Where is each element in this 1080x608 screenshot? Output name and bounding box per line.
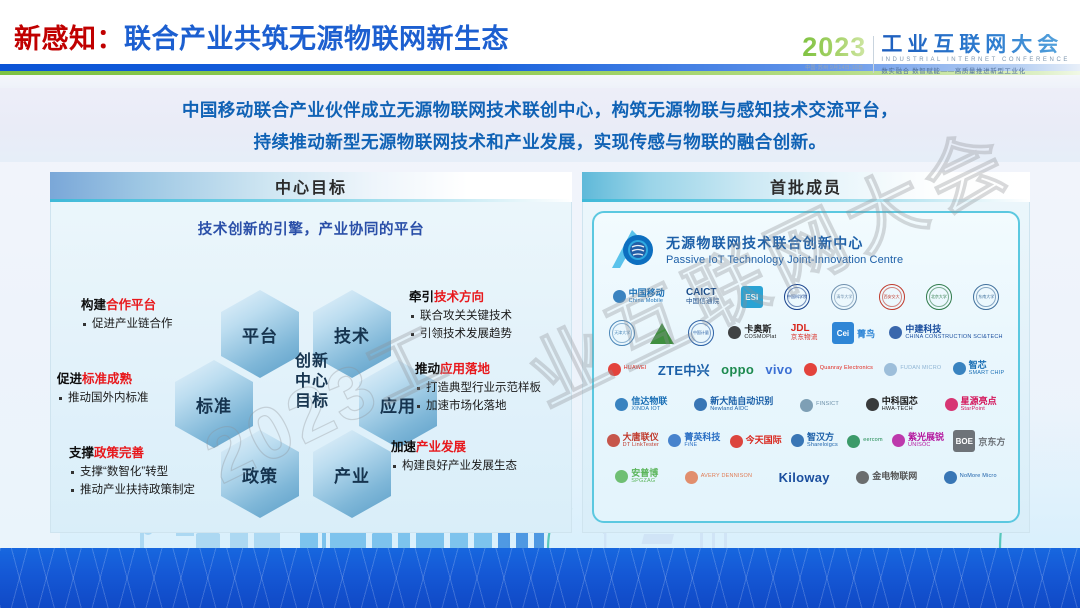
panel-center-goals: 中心目标 技术创新的引擎，产业协同的平台 平台 技术 标准 应用 政策 产业 创…: [50, 172, 572, 533]
seal-icon: 东南大学: [973, 284, 999, 310]
logo-name-en: DT LinkTester: [623, 443, 659, 449]
caption-policy-head-plain: 支撑: [69, 446, 94, 460]
logo-text: 卡奥斯COSMOPlat: [744, 325, 776, 340]
member-logo-seal-std[interactable]: [650, 323, 674, 344]
logo-text: 金电物联网: [872, 472, 917, 481]
caption-application-head-plain: 推动: [415, 362, 440, 376]
logo-mark-icon: [685, 471, 698, 484]
grid-floor-decoration: [0, 548, 1080, 608]
logo-wordmark: vivo: [765, 362, 792, 377]
member-logo-dt-linktester[interactable]: 大唐联仪DT LinkTester: [607, 433, 659, 448]
logo-text: 菁英科技FiNE: [684, 433, 720, 448]
logo-name-en: CHINA CONSTRUCTION SCI&TECH: [905, 335, 1002, 341]
logo-mark-icon: [892, 434, 905, 447]
seal-icon: 清华大学: [831, 284, 857, 310]
caption-policy-head-red: 政策完善: [94, 446, 144, 460]
header-rule-shadow: [0, 75, 1080, 88]
member-logo-seal-univ-3[interactable]: 北京大学: [926, 284, 952, 310]
member-logo-boe[interactable]: BOE京东方: [953, 430, 1005, 452]
seal-icon: 中国计量: [688, 320, 714, 346]
member-logo-kiloway[interactable]: Kiloway: [779, 470, 830, 485]
member-logo-fine[interactable]: 菁英科技FiNE: [668, 433, 720, 448]
seal-icon: 中国科学院: [784, 284, 810, 310]
seal-icon: 北京大学: [926, 284, 952, 310]
member-logo-eercom[interactable]: eercom: [847, 435, 883, 448]
list-item: 打造典型行业示范样板: [415, 380, 565, 397]
member-logo-row: 安普博SPGZAGAVERY DENNISONKiloway金电物联网NoMor…: [600, 459, 1012, 495]
innovation-center-name-en: Passive IoT Technology Joint-Innovation …: [666, 254, 903, 266]
logo-text: 智汉方Shareloigcs: [807, 433, 838, 448]
caption-industry: 加速产业发展 构建良好产业发展生态: [391, 438, 547, 476]
member-logo-jdl[interactable]: JDL京东物流: [791, 324, 818, 341]
logo-name-en: AVERY DENNISON: [701, 474, 752, 480]
logo-badge: BOE: [953, 430, 975, 452]
seal-label: 东南大学: [978, 295, 994, 299]
logo-mark-icon: [800, 399, 813, 412]
logo-wordmark: ZTE中兴: [658, 360, 710, 379]
caption-technology-head: 牵引技术方向: [409, 288, 569, 306]
member-logo-seal-univ-5[interactable]: 天津大学: [609, 320, 635, 346]
panel-left-body: 技术创新的引擎，产业协同的平台 平台 技术 标准 应用 政策 产业 创新 中心 …: [50, 202, 572, 533]
conference-logo-name-block: 工业互联网大会 INDUSTRIAL INTERNET CONFERENCE 数…: [881, 34, 1070, 75]
conference-name-cn: 工业互联网大会: [881, 34, 1070, 56]
hexagon-industry[interactable]: 产业: [313, 430, 391, 518]
list-item: 联合攻关关键技术: [409, 308, 569, 325]
member-logo-quanray[interactable]: Quanray Electronics: [804, 363, 873, 376]
logo-name-en: UNISOC: [908, 443, 944, 449]
logo-name-cn: 今天国际: [746, 436, 782, 445]
logo-mark-icon: [866, 398, 879, 411]
logo-text: Quanray Electronics: [820, 366, 873, 372]
caption-policy-bullets: 支撑“数智化”转型 推动产业扶持政策制定: [69, 464, 237, 498]
logo-name-en: FiNE: [684, 443, 720, 449]
list-item: 促进产业链合作: [81, 316, 231, 333]
panel-right-header: 首批成员: [582, 172, 1030, 199]
panel-right-body: 无源物联网技术联合创新中心 Passive IoT Technology Joi…: [582, 202, 1030, 533]
member-logo-vivo[interactable]: vivo: [765, 362, 792, 377]
conference-year: 2023: [802, 34, 866, 61]
innovation-center-logo-icon: [608, 226, 658, 272]
logo-text: HUAWEI: [624, 366, 647, 372]
logo-text: 今天国际: [746, 436, 782, 445]
banner-line-2: 持续推动新型无源物联网技术和产业发展，实现传感与物联的融合创新。: [254, 129, 827, 154]
member-logo-grid: 中国移动China MobileCAICT中国信通院ESI中国科学院清华大学西安…: [600, 279, 1012, 517]
caption-standard-head: 促进标准成熟: [57, 370, 207, 388]
logo-wordmark: Kiloway: [779, 470, 830, 485]
logo-name-en: NoMore Micro: [960, 474, 997, 480]
logo-name-en: HWA-TECH: [882, 407, 918, 413]
member-logo-zte[interactable]: ZTE中兴: [658, 360, 710, 379]
caption-platform: 构建合作平台 促进产业链合作: [81, 296, 231, 334]
member-logo-newland-aidc[interactable]: 新大陆自动识别Newland AIDC: [694, 397, 773, 412]
caption-application-head-red: 应用落地: [440, 362, 490, 376]
logo-name-en: COSMOPlat: [744, 335, 776, 341]
conference-logo-year-block: 2023 中国·苏州 9月14日-16日: [802, 34, 866, 71]
list-item: 引领技术发展趋势: [409, 326, 569, 343]
innovation-center-text: 无源物联网技术联合创新中心 Passive IoT Technology Joi…: [666, 233, 903, 266]
logo-mark-icon: [884, 363, 897, 376]
logo-text: 中国移动China Mobile: [629, 289, 665, 304]
center-label-line-3: 目标: [295, 392, 329, 412]
logo-mark-icon: [613, 290, 626, 303]
logo-mark-icon: [856, 471, 869, 484]
caption-technology-head-plain: 牵引: [409, 290, 434, 304]
innovation-center-name-cn: 无源物联网技术联合创新中心: [666, 233, 903, 253]
summary-banner: 中国移动联合产业伙伴成立无源物联网技术联创中心，构筑无源物联与感知技术交流平台，…: [0, 88, 1080, 162]
caption-standard: 促进标准成熟 推动国外内标准: [57, 370, 207, 408]
logo-mark-icon: [668, 434, 681, 447]
seal-label: 天津大学: [614, 331, 630, 335]
member-logo-smartchip[interactable]: 智芯SMART CHIP: [953, 361, 1005, 376]
logo-name-en: FUDAN MICRO: [900, 366, 941, 372]
member-logo-starpoint[interactable]: 星源亮点StarPoint: [945, 397, 997, 412]
caption-industry-head-red: 产业发展: [416, 440, 466, 454]
member-logo-spgzag[interactable]: 安普博SPGZAG: [615, 469, 658, 484]
member-logo-seal-cas[interactable]: 中国科学院: [784, 284, 810, 310]
logo-name-cn: 金电物联网: [872, 472, 917, 481]
center-label-line-2: 中心: [295, 372, 329, 392]
member-logo-seal-univ-2[interactable]: 西安交大: [879, 284, 905, 310]
logo-text: 信达物联XINDA IOT: [631, 397, 667, 412]
seal-icon: 西安交大: [879, 284, 905, 310]
member-logo-esi[interactable]: ESI: [741, 286, 763, 308]
member-logo-seal-univ-4[interactable]: 东南大学: [973, 284, 999, 310]
logo-badge: Cei: [832, 322, 854, 344]
logo-badge: ESI: [741, 286, 763, 308]
logo-mark-icon: [730, 435, 743, 448]
members-card: 无源物联网技术联合创新中心 Passive IoT Technology Joi…: [592, 211, 1020, 523]
logo-mark-icon: [608, 363, 621, 376]
logo-text: CAICT中国信通院: [686, 288, 720, 305]
seal-label: 中国计量: [693, 331, 709, 335]
member-logo-row: 中国移动China MobileCAICT中国信通院ESI中国科学院清华大学西安…: [600, 279, 1012, 315]
logo-mark-icon: [615, 398, 628, 411]
logo-mark-icon: [615, 470, 628, 483]
caption-platform-head: 构建合作平台: [81, 296, 231, 314]
hexagon-center-label: 创新 中心 目标: [269, 334, 355, 430]
caption-industry-head: 加速产业发展: [391, 438, 547, 456]
logo-text: 安普博SPGZAG: [631, 469, 658, 484]
seal-label: 清华大学: [836, 295, 852, 299]
logo-name-cn: 菁鸟: [857, 327, 875, 340]
caption-application-bullets: 打造典型行业示范样板 加速市场化落地: [415, 380, 565, 414]
caption-technology-head-red: 技术方向: [434, 290, 484, 304]
member-logo-jindian[interactable]: 金电物联网: [856, 471, 917, 484]
page-title-prefix: 新感知：: [14, 17, 124, 56]
logo-name-cn: 京东方: [978, 435, 1005, 448]
logo-name-cn: 中国信通院: [686, 299, 720, 306]
member-logo-unisoc[interactable]: 紫光展锐UNISOC: [892, 433, 944, 448]
member-logo-row: 大唐联仪DT LinkTester菁英科技FiNE今天国际智汉方Shareloi…: [600, 423, 1012, 459]
logo-text: FUDAN MICRO: [900, 366, 941, 372]
logo-name-en: Newland AIDC: [710, 407, 773, 413]
logo-mark-icon: [607, 434, 620, 447]
center-label-line-1: 创新: [295, 352, 329, 372]
conference-name-en: INDUSTRIAL INTERNET CONFERENCE: [881, 57, 1070, 63]
member-logo-caict[interactable]: CAICT中国信通院: [686, 288, 720, 305]
conference-logo: 2023 中国·苏州 9月14日-16日 工业互联网大会 INDUSTRIAL …: [802, 34, 1070, 75]
logo-text: 星源亮点StarPoint: [961, 397, 997, 412]
logo-name-en: SPGZAG: [631, 479, 658, 485]
logo-text: FINSICT: [816, 402, 839, 408]
member-logo-huawei[interactable]: HUAWEI: [608, 363, 647, 376]
caption-platform-head-red: 合作平台: [106, 298, 156, 312]
caption-platform-head-plain: 构建: [81, 298, 106, 312]
member-logo-cosmoplat[interactable]: 卡奥斯COSMOPlat: [728, 325, 776, 340]
seal-label: 中国科学院: [787, 295, 807, 299]
logo-name-en: Quanray Electronics: [820, 366, 873, 372]
logo-text: JDL京东物流: [791, 324, 818, 341]
member-logo-china-mobile[interactable]: 中国移动China Mobile: [613, 289, 665, 304]
member-logo-xinda-iot[interactable]: 信达物联XINDA IOT: [615, 397, 667, 412]
caption-technology: 牵引技术方向 联合攻关关键技术 引领技术发展趋势: [409, 288, 569, 343]
seal-label: 北京大学: [931, 295, 947, 299]
banner-line-1: 中国移动联合产业伙伴成立无源物联网技术联创中心，构筑无源物联与感知技术交流平台，: [182, 97, 898, 122]
logo-text: 智芯SMART CHIP: [969, 361, 1005, 376]
member-logo-hwa-tech[interactable]: 中科国芯HWA-TECH: [866, 397, 918, 412]
conference-date: 中国·苏州 9月14日-16日: [805, 64, 863, 71]
caption-application: 推动应用落地 打造典型行业示范样板 加速市场化落地: [415, 360, 565, 415]
caption-policy: 支撑政策完善 支撑“数智化”转型 推动产业扶持政策制定: [69, 444, 237, 499]
member-logo-row: 信达物联XINDA IOT新大陆自动识别Newland AIDCFINSICT中…: [600, 387, 1012, 423]
logo-name-cn: 京东物流: [791, 335, 818, 342]
logo-text: 大唐联仪DT LinkTester: [623, 433, 659, 448]
caption-standard-bullets: 推动国外内标准: [57, 390, 207, 407]
logo-mark-icon: [728, 326, 741, 339]
logo-text: AVERY DENNISON: [701, 474, 752, 480]
logo-text: 中科国芯HWA-TECH: [882, 397, 918, 412]
logo-mark-icon: [889, 326, 902, 339]
logo-name-en: eercom: [863, 438, 883, 444]
logo-mark-icon: [944, 471, 957, 484]
conference-slogan: 数实融合 数智赋能——高质量推进新型工业化: [881, 65, 1070, 75]
page-title: 新感知： 联合产业共筑无源物联网新生态: [0, 14, 509, 58]
panel-founding-members: 首批成员 无源物联网技术联合创新中心 Passive IoT Technolog…: [582, 172, 1030, 533]
caption-application-head: 推动应用落地: [415, 360, 565, 378]
logo-text: NoMore Micro: [960, 474, 997, 480]
logo-mark-icon: [953, 362, 966, 375]
logo-mark-icon: [847, 435, 860, 448]
list-item: 推动产业扶持政策制定: [69, 482, 237, 499]
caption-industry-head-plain: 加速: [391, 440, 416, 454]
logo-text: eercom: [863, 438, 883, 444]
member-logo-nlaoq[interactable]: Cei菁鸟: [832, 322, 875, 344]
caption-policy-head: 支撑政策完善: [69, 444, 237, 462]
hexagon-diagram: 平台 技术 标准 应用 政策 产业 创新 中心 目标 构建合作平台 促: [51, 248, 573, 532]
logo-name-en: StarPoint: [961, 407, 997, 413]
logo-name-en: SMART CHIP: [969, 371, 1005, 377]
logo-name-en: FINSICT: [816, 402, 839, 408]
conference-logo-divider: [873, 36, 874, 73]
member-logo-sharelogic[interactable]: 智汉方Shareloigcs: [791, 433, 838, 448]
logo-text: 紫光展锐UNISOC: [908, 433, 944, 448]
member-logo-finsict[interactable]: FINSICT: [800, 399, 839, 412]
member-logo-oppo[interactable]: oppo: [721, 362, 754, 377]
list-item: 推动国外内标准: [57, 390, 207, 407]
member-logo-seal-univ-6[interactable]: 中国计量: [688, 320, 714, 346]
logo-name-en: HUAWEI: [624, 366, 647, 372]
logo-mark-icon: [945, 398, 958, 411]
logo-mark-icon: [804, 363, 817, 376]
caption-standard-head-plain: 促进: [57, 372, 82, 386]
list-item: 构建良好产业发展生态: [391, 458, 547, 475]
logo-mark-icon: [791, 434, 804, 447]
slide-root: 新感知： 联合产业共筑无源物联网新生态 2023 中国·苏州 9月14日-16日…: [0, 0, 1080, 608]
logo-mark-icon: [694, 398, 707, 411]
member-logo-row: 天津大学中国计量卡奥斯COSMOPlatJDL京东物流Cei菁鸟中建科技CHIN…: [600, 315, 1012, 351]
member-logo-nomore-micro[interactable]: NoMore Micro: [944, 471, 997, 484]
logo-name-en: Shareloigcs: [807, 443, 838, 449]
logo-text: 中建科技CHINA CONSTRUCTION SCI&TECH: [905, 325, 1002, 340]
panel-left-header: 中心目标: [50, 172, 572, 199]
list-item: 支撑“数智化”转型: [69, 464, 237, 481]
caption-technology-bullets: 联合攻关关键技术 引领技术发展趋势: [409, 308, 569, 342]
logo-text: 新大陆自动识别Newland AIDC: [710, 397, 773, 412]
triangle-icon: [650, 323, 674, 344]
logo-wordmark: oppo: [721, 362, 754, 377]
member-logo-cscec[interactable]: 中建科技CHINA CONSTRUCTION SCI&TECH: [889, 325, 1002, 340]
member-logo-seal-univ-1[interactable]: 清华大学: [831, 284, 857, 310]
member-logo-fudan-micro[interactable]: FUDAN MICRO: [884, 363, 941, 376]
caption-platform-bullets: 促进产业链合作: [81, 316, 231, 333]
innovation-center-badge: 无源物联网技术联合创新中心 Passive IoT Technology Joi…: [608, 221, 1010, 277]
member-logo-jintian[interactable]: 今天国际: [730, 435, 782, 448]
page-title-main: 联合产业共筑无源物联网新生态: [124, 17, 509, 56]
member-logo-avery-dennison[interactable]: AVERY DENNISON: [685, 471, 752, 484]
member-logo-row: HUAWEIZTE中兴oppovivoQuanray ElectronicsFU…: [600, 351, 1012, 387]
seal-icon: 天津大学: [609, 320, 635, 346]
logo-name-en: China Mobile: [629, 299, 665, 305]
list-item: 加速市场化落地: [415, 398, 565, 415]
panel-left-subtitle: 技术创新的引擎，产业协同的平台: [51, 218, 571, 239]
caption-standard-head-red: 标准成熟: [82, 372, 132, 386]
seal-label: 西安交大: [884, 295, 900, 299]
caption-industry-bullets: 构建良好产业发展生态: [391, 458, 547, 475]
logo-name-en: XINDA IOT: [631, 407, 667, 413]
